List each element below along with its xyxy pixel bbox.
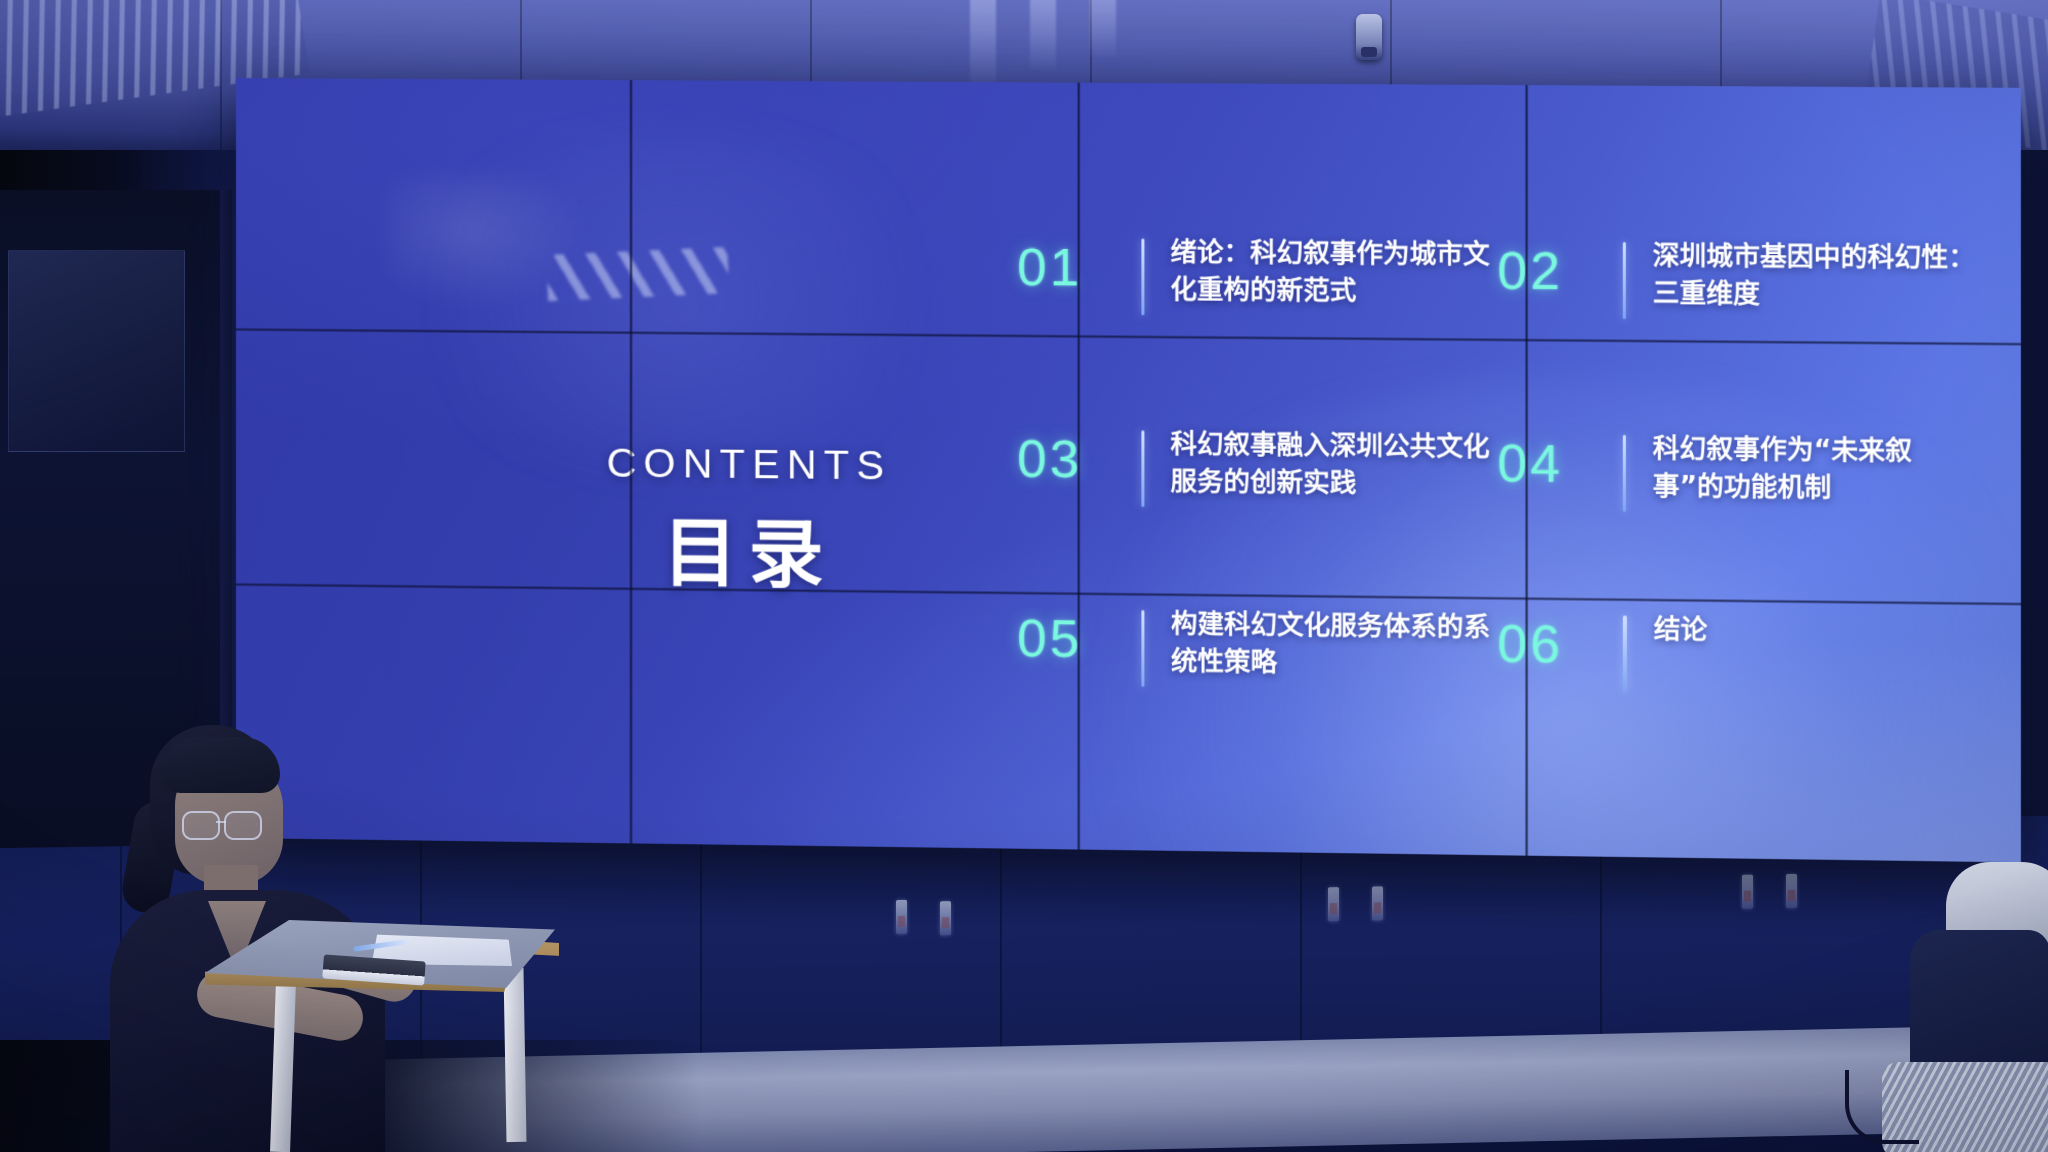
glasses-icon [224,811,262,840]
contents-item-divider [1141,238,1144,315]
contents-item-label: 结论 [1654,612,1708,650]
video-wall-seam-vertical [1077,83,1080,850]
contents-heading: CONTENTS 目录 [537,439,961,604]
table-leg [270,982,296,1152]
contents-item-number: 04 [1497,430,1622,492]
contents-item-divider [1623,615,1627,692]
contents-item-divider [1141,430,1144,507]
contents-item-03[interactable]: 03 科幻叙事融入深圳公共文化服务的创新实践 [1017,425,1497,510]
contents-item-divider [1623,242,1626,319]
contents-heading-en: CONTENTS [537,439,961,490]
video-wall-seam-vertical [1525,85,1528,856]
contents-row: 05 构建科幻文化服务体系的系统性策略 06 结论 [1017,605,1982,697]
room-scene: CONTENTS 目录 01 绪论：科幻叙事作为城市文化重构的新范式 02 深圳… [0,0,2048,1152]
contents-item-label: 科幻叙事作为“未来叙事”的功能机制 [1653,431,1983,509]
contents-row: 03 科幻叙事融入深圳公共文化服务的创新实践 04 科幻叙事作为“未来叙事”的功… [1017,425,1982,515]
cabinet-handle[interactable] [896,900,907,934]
contents-row: 01 绪论：科幻叙事作为城市文化重构的新范式 02 深圳城市基因中的科幻性：三重… [1017,234,1982,322]
presentation-slide: CONTENTS 目录 01 绪论：科幻叙事作为城市文化重构的新范式 02 深圳… [236,78,2021,862]
table-leg [503,968,526,1142]
presenter-fringe [162,737,280,793]
contents-item-label: 科幻叙事融入深圳公共文化服务的创新实践 [1171,427,1498,505]
cabinet-handle[interactable] [1328,887,1339,921]
glasses-icon [182,811,220,840]
glasses-bridge [216,821,226,823]
contents-item-label: 构建科幻文化服务体系的系统性策略 [1171,606,1497,684]
contents-item-label: 绪论：科幻叙事作为城市文化重构的新范式 [1171,235,1498,312]
contents-item-04[interactable]: 04 科幻叙事作为“未来叙事”的功能机制 [1497,430,1982,516]
contents-item-01[interactable]: 01 绪论：科幻叙事作为城市文化重构的新范式 [1017,234,1497,319]
contents-item-number: 02 [1497,237,1622,299]
cabinet-handle[interactable] [1372,886,1383,920]
contents-list: 01 绪论：科幻叙事作为城市文化重构的新范式 02 深圳城市基因中的科幻性：三重… [1017,234,1982,781]
cabinet-handle[interactable] [940,901,951,935]
contents-item-divider [1141,610,1144,687]
contents-item-05[interactable]: 05 构建科幻文化服务体系的系统性策略 [1017,605,1497,691]
left-window-panel [8,250,185,452]
contents-item-divider [1623,435,1626,512]
smoke-detector-icon [1356,14,1382,60]
contents-item-02[interactable]: 02 深圳城市基因中的科幻性：三重维度 [1497,237,1982,322]
cabinet-handle[interactable] [1786,874,1797,908]
video-wall-seam-vertical [630,80,633,843]
chair-back [1910,930,2048,1080]
contents-item-label: 深圳城市基因中的科幻性：三重维度 [1653,238,1983,316]
contents-item-06[interactable]: 06 结论 [1497,610,1982,697]
cabinet-handle[interactable] [1742,875,1753,909]
video-wall-display[interactable]: CONTENTS 目录 01 绪论：科幻叙事作为城市文化重构的新范式 02 深圳… [236,78,2021,862]
contents-item-number: 06 [1497,610,1622,672]
screen-reflection-streaks [546,247,730,301]
presenter-table [205,920,575,1152]
